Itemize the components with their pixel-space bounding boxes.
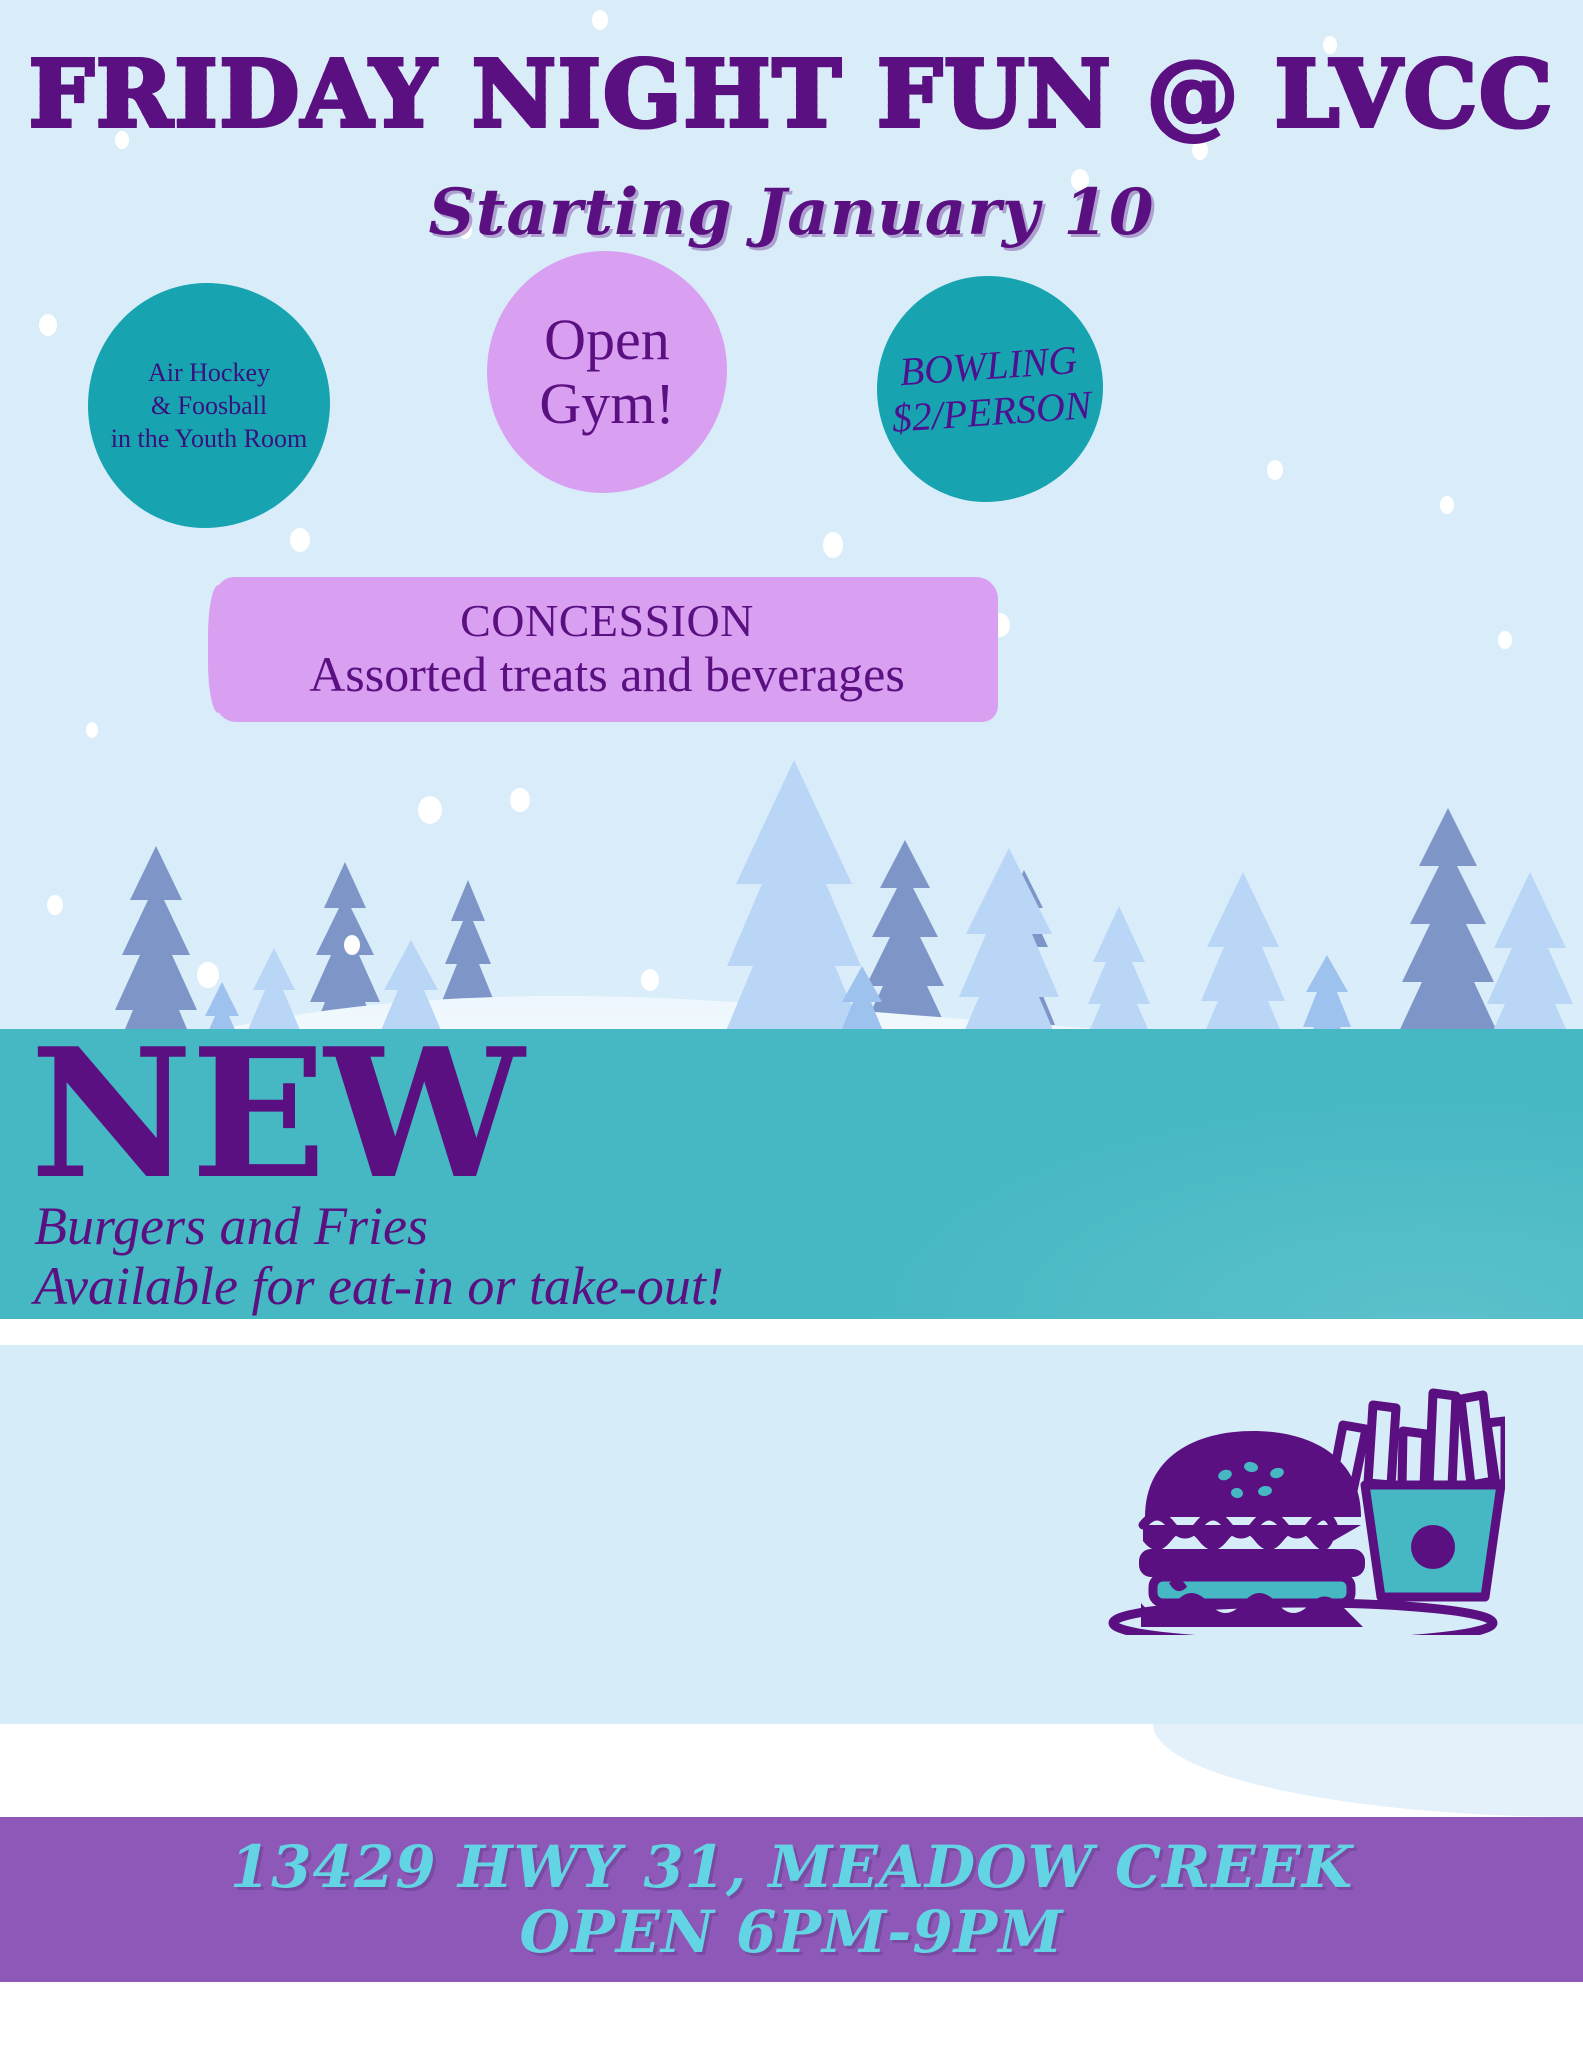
footer-address: 13429 HWY 31, MEADOW CREEK <box>230 1835 1353 1900</box>
activity-label-air-hockey: Air Hockey & Foosball in the Youth Room <box>111 356 308 456</box>
new-description: Burgers and Fries Available for eat-in o… <box>34 1196 724 1317</box>
activity-label-bowling: BOWLING $2/PERSON <box>887 336 1093 442</box>
band-sheen <box>823 1079 1583 1319</box>
burger-and-fries-icon <box>1085 1335 1505 1635</box>
activity-label-open-gym: Open Gym! <box>539 308 674 436</box>
bottom-white-margin <box>0 1982 1583 2048</box>
footer-hours: OPEN 6PM-9PM <box>520 1900 1064 1965</box>
footer-band: 13429 HWY 31, MEADOW CREEK OPEN 6PM-9PM <box>0 1817 1583 1982</box>
snow-curve <box>1153 1724 1583 1817</box>
page-title-text: FRIDAY NIGHT FUN @ LVCC <box>29 40 1555 148</box>
new-description-line1: Burgers and Fries <box>34 1196 724 1256</box>
concession-detail: Assorted treats and beverages <box>309 646 905 702</box>
new-description-line2: Available for eat-in or take-out! <box>34 1256 724 1316</box>
page-subtitle: Starting January 10 <box>0 175 1583 250</box>
white-divider-band <box>0 1724 1583 1817</box>
page-title: FRIDAY NIGHT FUN @ LVCC <box>0 40 1583 148</box>
concession-banner: CONCESSION Assorted treats and beverages <box>216 577 998 722</box>
new-headline: NEW <box>30 1025 522 1203</box>
flyer-poster: FRIDAY NIGHT FUN @ LVCC Starting January… <box>0 0 1583 2048</box>
concession-heading: CONCESSION <box>460 597 754 645</box>
